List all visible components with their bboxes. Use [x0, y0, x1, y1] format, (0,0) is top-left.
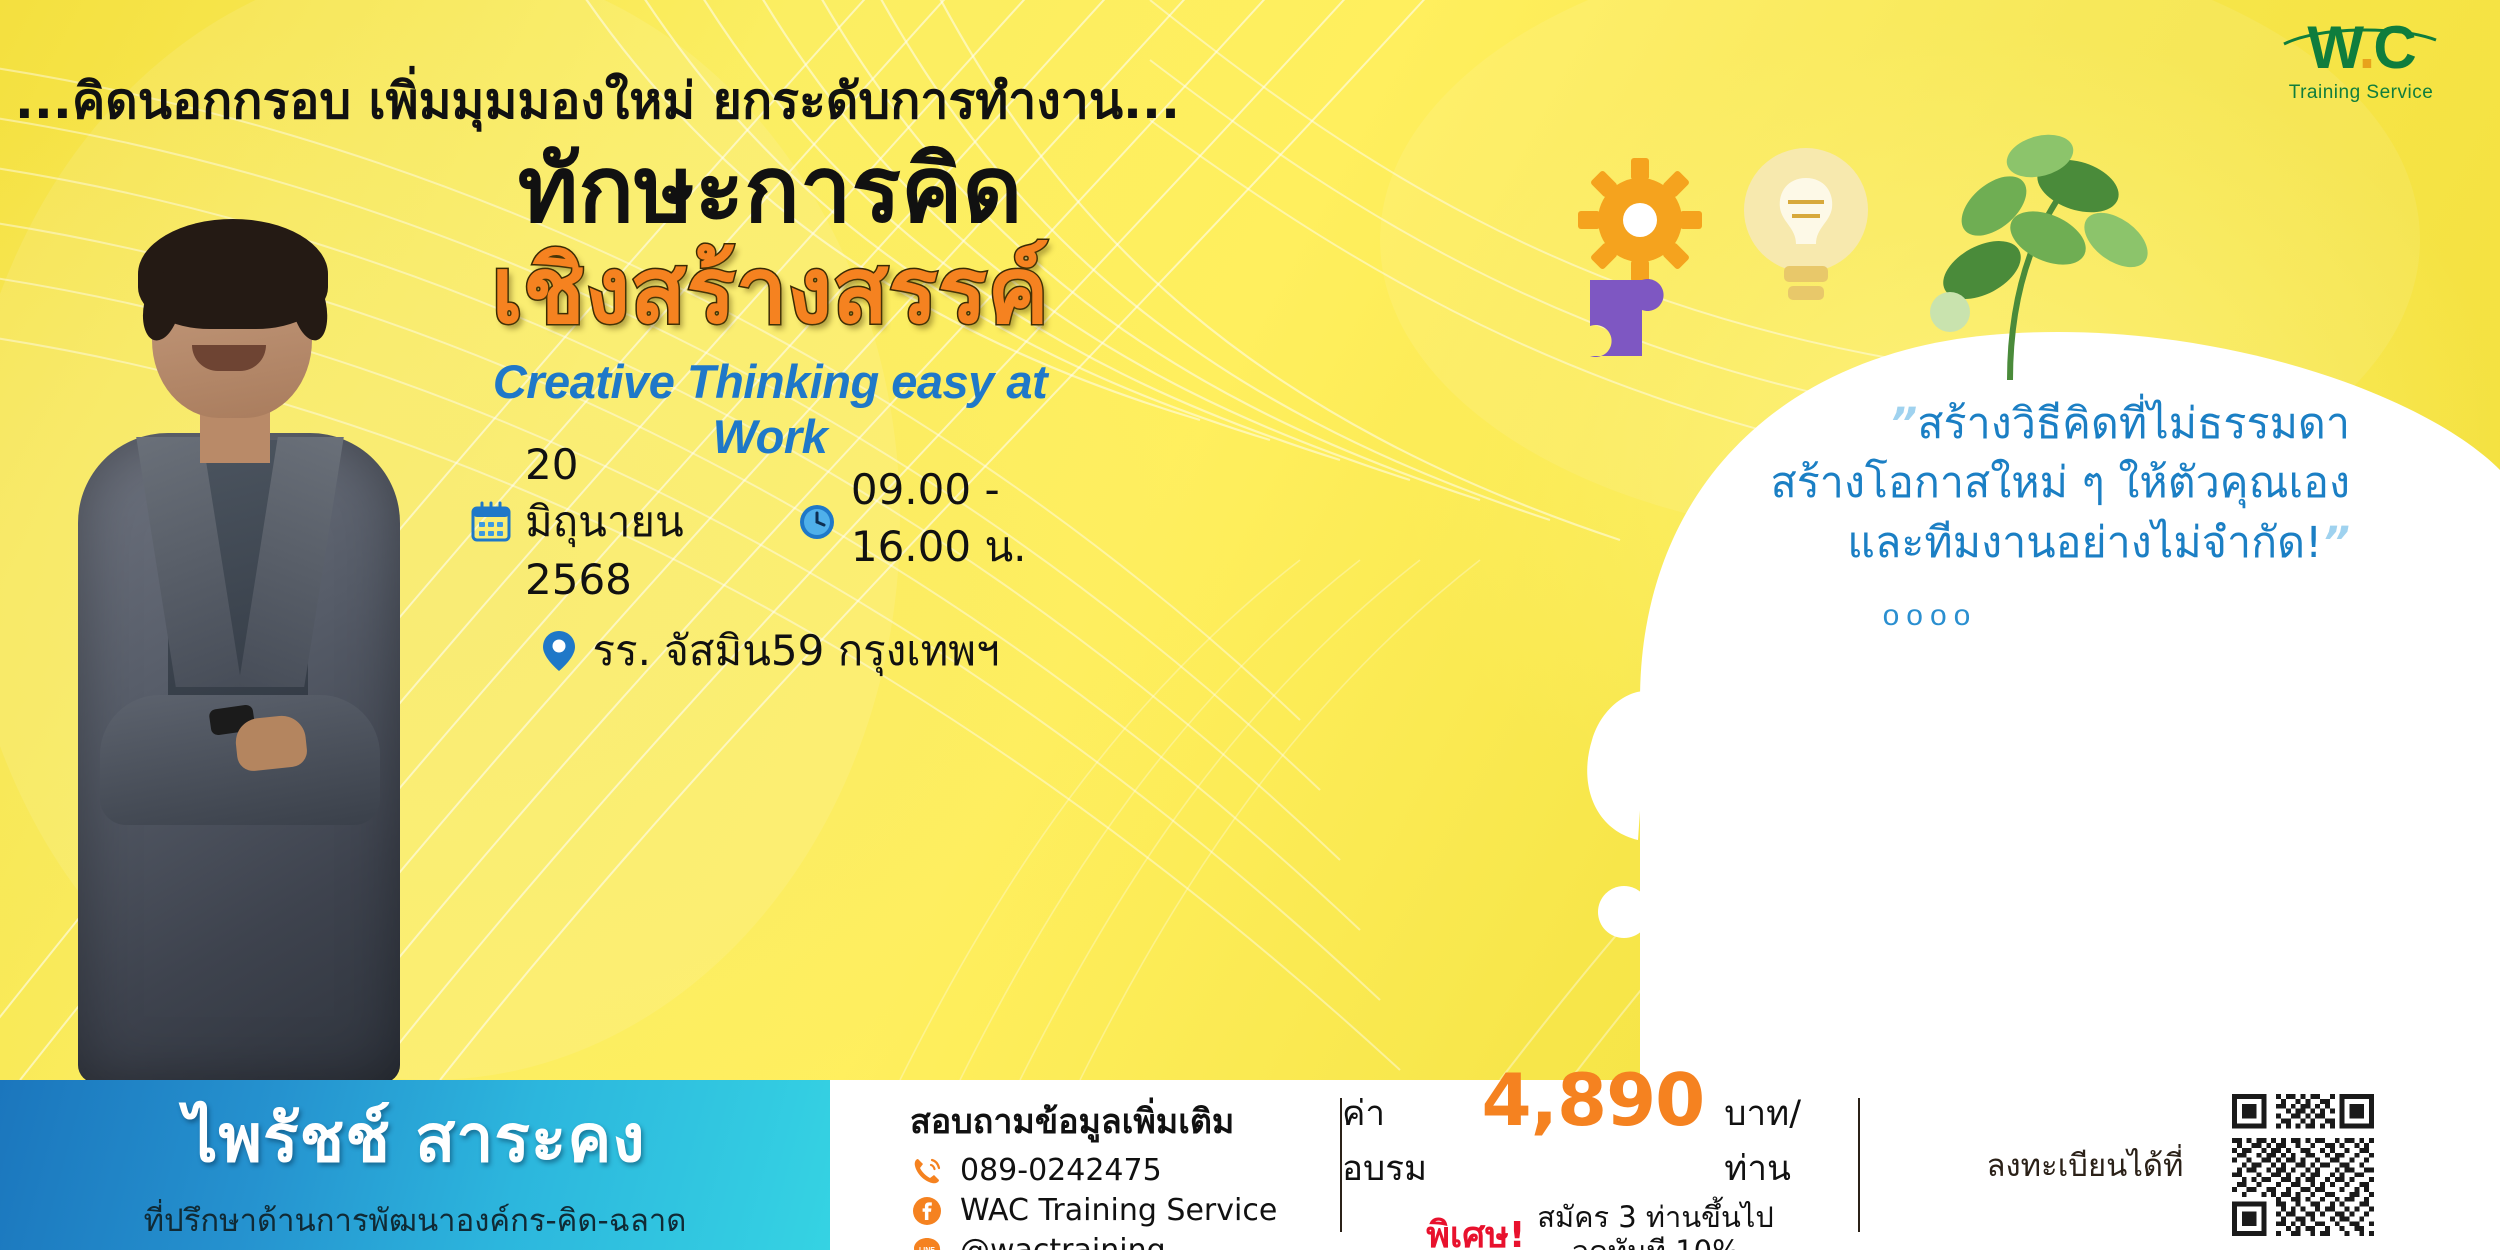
phone-icon: [910, 1154, 944, 1188]
qr-code-icon[interactable]: [2232, 1094, 2374, 1236]
idea-decorations: [1550, 130, 2170, 430]
contact-row-facebook[interactable]: WAC Training Service: [910, 1193, 1340, 1228]
event-info: 20 มิถุนายน 2568 09.00 - 16.00 น.: [470, 440, 1070, 698]
price-special-badge: พิเศษ!: [1426, 1206, 1525, 1250]
event-time-group: 09.00 - 16.00 น.: [796, 465, 1070, 580]
speaker-name: ไพรัชช์ สาระคง: [184, 1086, 645, 1191]
bottom-bar: ไพรัชช์ สาระคง ที่ปรึกษาด้านการพัฒนาองค์…: [0, 1080, 2500, 1250]
price-promo-line1: สมัคร 3 ท่านขึ้นไป: [1537, 1200, 1774, 1234]
logo-tagline: Training Service: [2266, 82, 2456, 104]
logo-wordmark: W.C: [2266, 18, 2456, 78]
contact-panel: สอบถามข้อมูลเพิ่มเติม 089-0242475: [830, 1080, 1340, 1250]
wac-logo: W.C Training Service: [2266, 18, 2456, 104]
contact-heading: สอบถามข้อมูลเพิ่มเติม: [910, 1094, 1340, 1148]
quote-open-mark: ”: [1890, 399, 1918, 449]
hero-headline: ทักษะการคิด เชิงสร้างสรรค์ Creative Thin…: [470, 140, 1070, 464]
speaker-hair: [138, 219, 328, 329]
hero-title-thai-line1: ทักษะการคิด: [470, 140, 1070, 239]
price-panel: ค่าอบรม 4,890 บาท/ท่าน พิเศษ! สมัคร 3 ท่…: [1342, 1080, 1858, 1250]
price-promo-row: พิเศษ! สมัคร 3 ท่านขึ้นไป ลดทันที 10%: [1426, 1200, 1774, 1250]
price-unit: บาท/ท่าน: [1724, 1086, 1858, 1196]
speaker-role: ที่ปรึกษาด้านการพัฒนาองค์กร-คิด-ฉลาด: [144, 1195, 687, 1245]
svg-text:LINE: LINE: [919, 1247, 935, 1250]
contact-phone-value: 089-0242475: [960, 1153, 1162, 1188]
price-promo-text: สมัคร 3 ท่านขึ้นไป ลดทันที 10%: [1537, 1200, 1774, 1250]
quote-line-2: สร้างโอกาสใหม่ ๆ ให้ตัวคุณเอง: [1660, 454, 2350, 513]
contact-row-line[interactable]: LINE @wactraining: [910, 1233, 1340, 1250]
price-promo-line2: ลดทันที 10%: [1571, 1234, 1739, 1250]
promo-banner: W.C Training Service ...คิดนอกกรอบ เพิ่ม…: [0, 0, 2500, 1250]
price-main-row: ค่าอบรม 4,890 บาท/ท่าน: [1342, 1058, 1858, 1196]
puzzle-piece-icon: [1590, 279, 1664, 357]
event-date-time-row: 20 มิถุนายน 2568 09.00 - 16.00 น.: [470, 440, 1070, 604]
line-icon: LINE: [910, 1234, 944, 1250]
speaker-hand: [233, 713, 308, 772]
calendar-icon: [470, 501, 512, 543]
price-amount: 4,890: [1482, 1058, 1705, 1142]
lightbulb-icon: [1744, 148, 1868, 300]
quote-close-mark: ”: [2322, 518, 2350, 568]
hero-title-thai-line2: เชิงสร้างสรรค์: [470, 239, 1070, 342]
facebook-icon: [910, 1194, 944, 1228]
register-panel[interactable]: ลงทะเบียนได้ที่: [1860, 1080, 2500, 1250]
price-label: ค่าอบรม: [1342, 1086, 1462, 1196]
event-date-text: 20 มิถุนายน 2568: [525, 440, 750, 604]
quote-block: ”สร้างวิธีคิดที่ไม่ธรรมดา สร้างโอกาสใหม่…: [1660, 395, 2350, 633]
plant-leaves-icon: [1930, 130, 2157, 380]
gear-icon: [1578, 158, 1702, 282]
clock-icon: [796, 501, 838, 543]
quote-line-1-text: สร้างวิธีคิดที่ไม่ธรรมดา: [1917, 399, 2350, 449]
contact-line-value: @wactraining: [960, 1233, 1166, 1250]
logo-letter-c: C: [2373, 14, 2414, 81]
brain-graphic: ”สร้างวิธีคิดที่ไม่ธรรมดา สร้างโอกาสใหม่…: [1520, 140, 2500, 1080]
location-pin-icon: [540, 629, 578, 673]
quote-line-1: ”สร้างวิธีคิดที่ไม่ธรรมดา: [1660, 395, 2350, 454]
hero-tagline: ...คิดนอกกรอบ เพิ่มมุมมองใหม่ ยกระดับการ…: [0, 62, 1180, 141]
logo-dot-icon: .: [2359, 14, 2374, 81]
register-label: ลงทะเบียนได้ที่: [1986, 1140, 2183, 1190]
event-venue-row: รร. จัสมิน59 กรุงเทพฯ: [470, 618, 1070, 684]
event-venue-text: รร. จัสมิน59 กรุงเทพฯ: [592, 618, 999, 684]
logo-letter-w: W: [2307, 14, 2358, 81]
speaker-panel: ไพรัชช์ สาระคง ที่ปรึกษาด้านการพัฒนาองค์…: [0, 1080, 830, 1250]
quote-line-3-text: และทีมงานอย่างไม่จำกัด!: [1847, 518, 2322, 568]
quote-dots: oooo: [1660, 599, 2350, 633]
event-time-text: 09.00 - 16.00 น.: [851, 465, 1070, 580]
contact-row-phone[interactable]: 089-0242475: [910, 1153, 1340, 1188]
contact-facebook-value: WAC Training Service: [960, 1193, 1277, 1228]
event-date-group: 20 มิถุนายน 2568: [470, 440, 750, 604]
quote-line-3: และทีมงานอย่างไม่จำกัด!”: [1660, 514, 2350, 573]
speaker-photo: [60, 225, 420, 1080]
